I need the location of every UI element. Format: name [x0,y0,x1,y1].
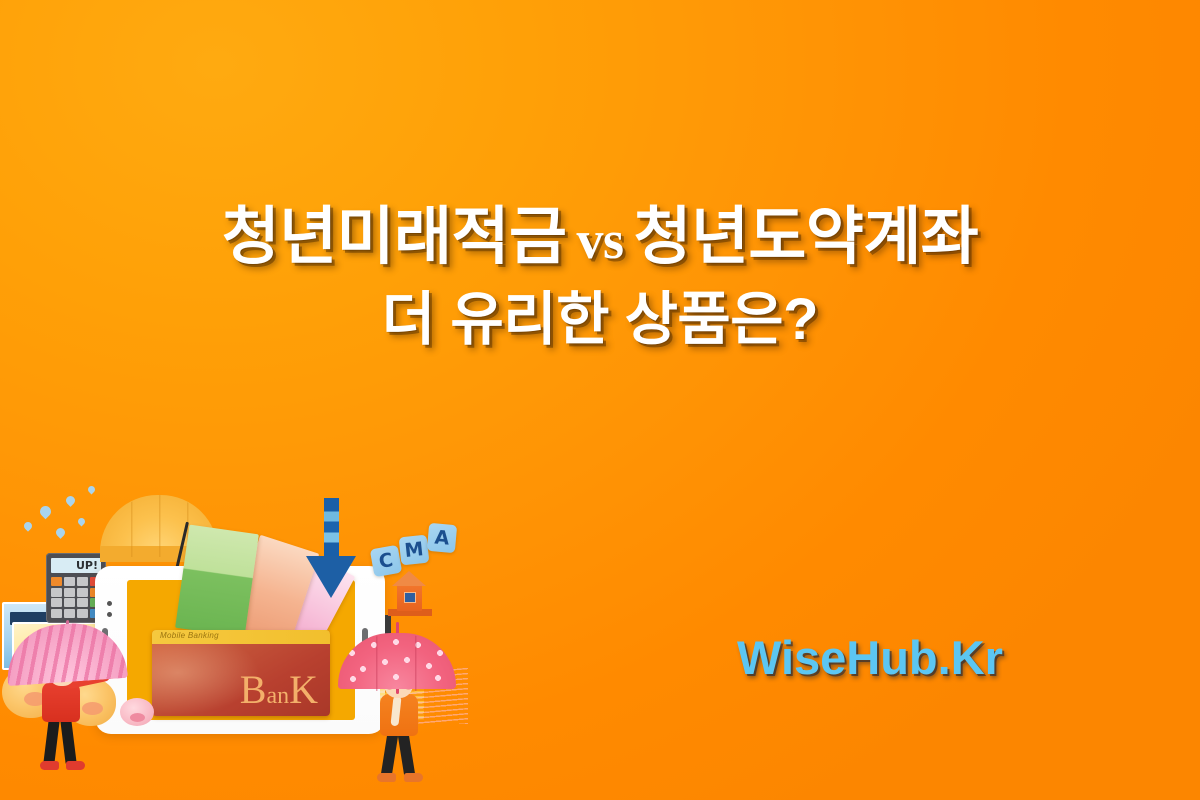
person-girl-leg [43,718,60,767]
raindrop-icon [54,526,67,539]
person-boy-leg [397,731,415,778]
raindrop-icon [38,504,54,520]
bank-logo-k: K [289,667,318,712]
person-girl-shoe [66,761,85,770]
house-roof [392,571,426,586]
house-window [404,592,416,603]
down-arrow-icon [324,498,339,560]
raindrop-icon [77,517,87,527]
banknote-10000-icon: 10000 [175,525,259,638]
person-boy-shoe [377,773,396,782]
product-name-right: 청년도약계좌 [634,202,979,272]
vs-separator: vs [566,210,633,270]
calculator-keypad [51,577,101,618]
site-watermark: WiseHub.Kr [737,630,1003,685]
title-line-1: 청년미래적금vs청년도약계좌 [0,206,1200,269]
person-girl-shoe [40,761,59,770]
raindrop-icon [64,494,77,507]
piggy-bank-snout [82,702,103,715]
down-arrow-head [306,556,356,598]
product-name-left: 청년미래적금 [222,202,567,272]
cma-tile-a: A [427,523,457,553]
calculator-display: UP! [51,558,101,573]
bank-card-icon: Mobile Banking BanK [152,630,330,716]
cma-tile-m: M [399,535,430,566]
raindrop-icon [22,520,33,531]
raindrop-icon [87,485,97,495]
title-line-2: 더 유리한 상품은? [0,291,1200,349]
smartphone-speaker [107,601,112,606]
piggy-bank-snout [130,713,145,722]
bank-logo-an: an [266,683,289,709]
bank-card-band: Mobile Banking [152,630,330,644]
thumbnail-canvas: UP! 1000 5000 10000 [0,0,1200,800]
person-girl-leg [60,718,77,767]
bank-card-logo: BanK [240,670,318,710]
bank-logo-b: B [240,667,267,712]
finance-illustration: UP! 1000 5000 10000 [0,470,500,800]
person-boy-shoe [404,773,423,782]
person-boy-leg [380,731,398,778]
page-title: 청년미래적금vs청년도약계좌 더 유리한 상품은? [0,206,1200,349]
smartphone-camera [107,612,112,617]
bank-card-band-text: Mobile Banking [160,631,219,640]
